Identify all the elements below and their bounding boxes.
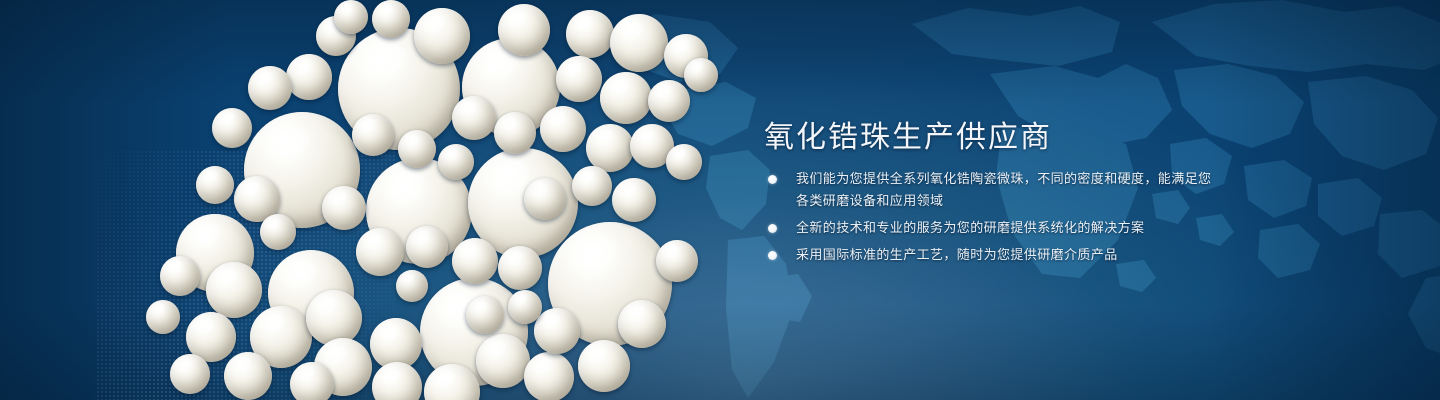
list-item-label: 我们能为您提供全系列氧化锆陶瓷微珠，不同的密度和硬度，能满足您各类研磨设备和应用… [796,171,1211,208]
bead [586,124,634,172]
bead [508,290,542,324]
list-item: 全新的技术和专业的服务为您的研磨提供系统化的解决方案 [768,217,1218,239]
bead [610,14,668,72]
bead [648,80,690,122]
bead [260,214,296,250]
bead [290,362,334,400]
page-title: 氧化锆珠生产供应商 [764,112,1052,156]
bead [452,238,498,284]
bead [524,178,566,220]
bead [656,240,698,282]
bead [476,334,530,388]
list-item-label: 全新的技术和专业的服务为您的研磨提供系统化的解决方案 [796,220,1144,235]
bead [600,72,652,124]
zirconia-beads-photo [0,0,760,400]
bead [466,296,504,334]
bead [212,108,252,148]
bead [498,246,542,290]
bead [540,106,586,152]
bead [372,362,422,400]
bead [160,256,200,296]
bead [414,8,470,64]
bead [498,4,550,56]
bead [406,226,448,268]
bead [398,130,436,168]
bead [524,352,574,400]
bead [286,54,332,100]
bead [352,114,394,156]
bead [556,56,602,102]
feature-list: 我们能为您提供全系列氧化锆陶瓷微珠，不同的密度和硬度，能满足您各类研磨设备和应用… [768,168,1218,266]
bead [224,352,272,400]
bead [666,144,702,180]
bead [618,300,666,348]
bead [170,354,210,394]
bullet-dot-icon [768,251,777,260]
bead [494,112,536,154]
banner-text-block: 氧化锆珠生产供应商 我们能为您提供全系列氧化锆陶瓷微珠，不同的密度和硬度，能满足… [764,0,1404,400]
bead [566,10,614,58]
bead [572,166,612,206]
list-item-label: 采用国际标准的生产工艺，随时为您提供研磨介质产品 [796,247,1118,262]
bead [578,340,630,392]
bead [396,270,428,302]
bead [438,144,474,180]
bead [146,300,180,334]
list-item: 采用国际标准的生产工艺，随时为您提供研磨介质产品 [768,244,1218,266]
bead [684,58,718,92]
bead [372,0,410,38]
bead [322,186,366,230]
bead [612,178,656,222]
bead [534,308,580,354]
bead [248,66,292,110]
bead [306,290,362,346]
bead [206,262,262,318]
promo-banner: 氧化锆珠生产供应商 我们能为您提供全系列氧化锆陶瓷微珠，不同的密度和硬度，能满足… [0,0,1440,400]
bullet-dot-icon [768,224,777,233]
bead [196,166,234,204]
bead [452,96,496,140]
bead [334,0,368,34]
bead [356,228,404,276]
bullet-dot-icon [768,175,777,184]
list-item: 我们能为您提供全系列氧化锆陶瓷微珠，不同的密度和硬度，能满足您各类研磨设备和应用… [768,168,1218,212]
